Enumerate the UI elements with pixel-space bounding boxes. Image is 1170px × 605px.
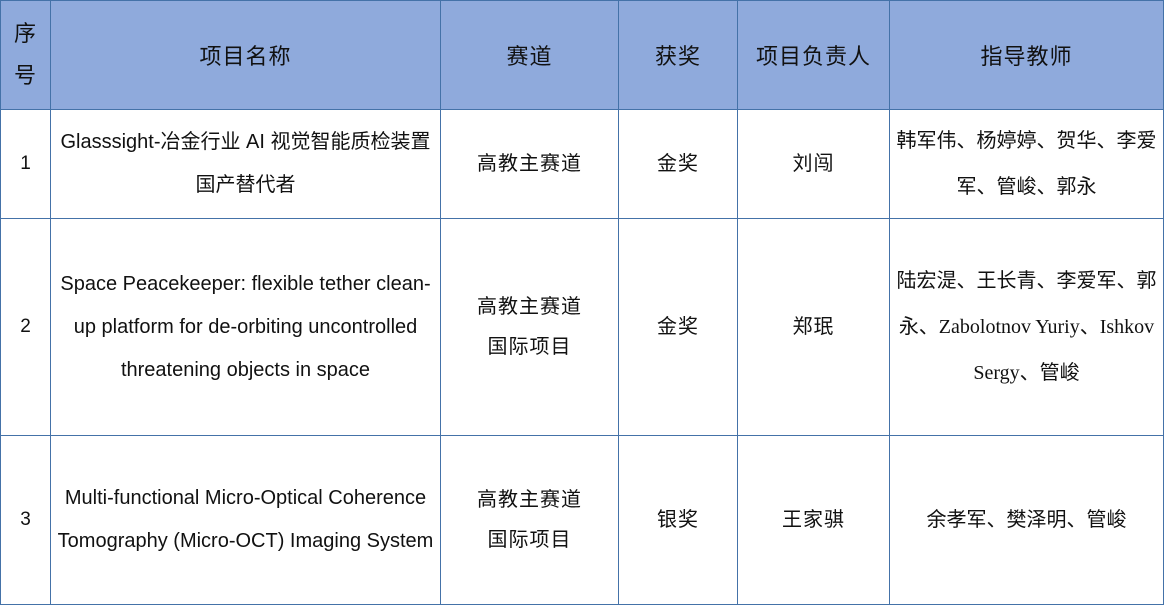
cell-leader: 郑珉 — [738, 219, 890, 436]
table-head: 序 号 项目名称 赛道 获奖 项目负责人 指导教师 — [1, 1, 1164, 110]
column-header-project: 项目名称 — [51, 1, 441, 110]
cell-track-line-2: 国际项目 — [447, 520, 612, 560]
award-table: 序 号 项目名称 赛道 获奖 项目负责人 指导教师 1 Glasssight-冶… — [0, 0, 1164, 605]
cell-index: 3 — [1, 436, 51, 605]
cell-track-line-1: 高教主赛道 — [447, 287, 612, 327]
column-header-index: 序 号 — [1, 1, 51, 110]
table-body: 1 Glasssight-冶金行业 AI 视觉智能质检装置国产替代者 高教主赛道… — [1, 110, 1164, 605]
column-header-leader: 项目负责人 — [738, 1, 890, 110]
cell-project-name: Space Peacekeeper: flexible tether clean… — [51, 219, 441, 436]
cell-index: 2 — [1, 219, 51, 436]
cell-track-line-1: 高教主赛道 — [447, 480, 612, 520]
cell-track-line-2: 国际项目 — [447, 327, 612, 367]
table-row: 1 Glasssight-冶金行业 AI 视觉智能质检装置国产替代者 高教主赛道… — [1, 110, 1164, 219]
column-header-track: 赛道 — [441, 1, 619, 110]
cell-teachers: 韩军伟、杨婷婷、贺华、李爱军、管峻、郭永 — [890, 110, 1164, 219]
cell-award: 金奖 — [619, 219, 738, 436]
column-header-index-line-2: 号 — [7, 55, 44, 97]
table-row: 3 Multi-functional Micro-Optical Coheren… — [1, 436, 1164, 605]
cell-track: 高教主赛道 — [441, 110, 619, 219]
cell-award: 金奖 — [619, 110, 738, 219]
cell-track-line-1: 高教主赛道 — [447, 144, 612, 184]
column-header-teachers: 指导教师 — [890, 1, 1164, 110]
cell-teachers: 陆宏湜、王长青、李爱军、郭永、Zabolotnov Yuriy、Ishkov S… — [890, 219, 1164, 436]
cell-project-name: Glasssight-冶金行业 AI 视觉智能质检装置国产替代者 — [51, 110, 441, 219]
cell-index: 1 — [1, 110, 51, 219]
column-header-award: 获奖 — [619, 1, 738, 110]
cell-leader: 王家骐 — [738, 436, 890, 605]
table-row: 2 Space Peacekeeper: flexible tether cle… — [1, 219, 1164, 436]
cell-leader: 刘闯 — [738, 110, 890, 219]
cell-teachers: 余孝军、樊泽明、管峻 — [890, 436, 1164, 605]
table-header-row: 序 号 项目名称 赛道 获奖 项目负责人 指导教师 — [1, 1, 1164, 110]
cell-award: 银奖 — [619, 436, 738, 605]
cell-project-name: Multi-functional Micro-Optical Coherence… — [51, 436, 441, 605]
cell-track: 高教主赛道 国际项目 — [441, 436, 619, 605]
column-header-index-line-1: 序 — [7, 13, 44, 55]
page-root: 序 号 项目名称 赛道 获奖 项目负责人 指导教师 1 Glasssight-冶… — [0, 0, 1170, 576]
cell-track: 高教主赛道 国际项目 — [441, 219, 619, 436]
